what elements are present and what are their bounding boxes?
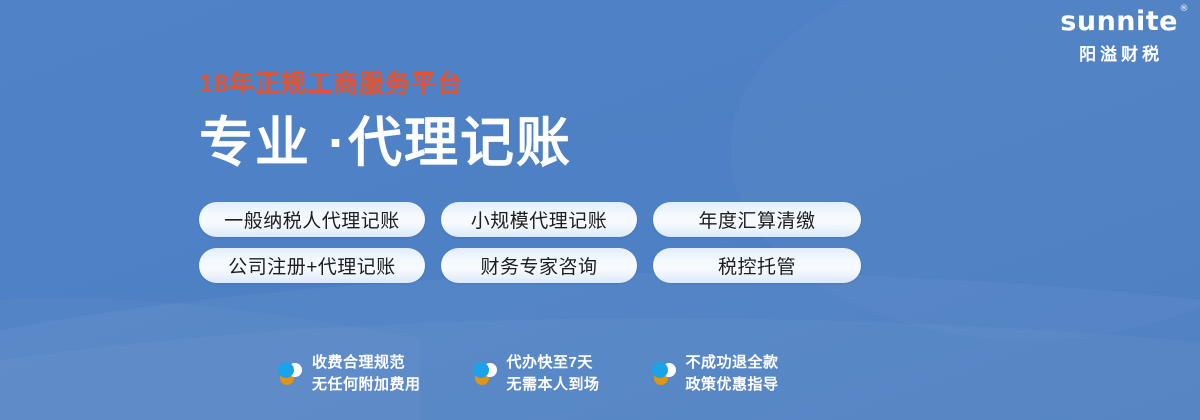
service-pill[interactable]: 一般纳税人代理记账 [199, 202, 425, 237]
feature-line-2: 无需本人到场 [507, 374, 600, 396]
feature-text: 代办快至7天 无需本人到场 [507, 352, 600, 396]
service-pill[interactable]: 税控托管 [653, 248, 861, 283]
badge-blue-dot-icon [473, 362, 489, 378]
promo-banner: sunnite ® 阳溢财税 18年正规工商服务平台 专业 ·代理记账 一般纳税… [0, 0, 1200, 420]
feature-item: 代办快至7天 无需本人到场 [472, 352, 600, 396]
three-dot-badge-icon [651, 359, 677, 389]
logo-wordmark: sunnite ® [1060, 8, 1178, 35]
feature-line-2: 政策优惠指导 [686, 374, 779, 396]
service-pill-grid: 一般纳税人代理记账 小规模代理记账 年度汇算清缴 公司注册+代理记账 财务专家咨… [199, 202, 861, 283]
feature-line-1: 代办快至7天 [507, 352, 600, 374]
service-pill-row: 公司注册+代理记账 财务专家咨询 税控托管 [199, 248, 861, 283]
service-pill[interactable]: 公司注册+代理记账 [199, 248, 425, 283]
feature-text: 收费合理规范 无任何附加费用 [312, 352, 421, 396]
headline-block: 18年正规工商服务平台 专业 ·代理记账 [199, 72, 572, 170]
feature-item: 不成功退全款 政策优惠指导 [651, 352, 779, 396]
feature-text: 不成功退全款 政策优惠指导 [686, 352, 779, 396]
feature-list: 收费合理规范 无任何附加费用 代办快至7天 无需本人到场 不成功退全款 [277, 352, 779, 396]
three-dot-badge-icon [472, 359, 498, 389]
service-pill-row: 一般纳税人代理记账 小规模代理记账 年度汇算清缴 [199, 202, 861, 237]
service-pill[interactable]: 年度汇算清缴 [653, 202, 861, 237]
registered-trademark-icon: ® [1180, 5, 1190, 14]
feature-line-1: 收费合理规范 [312, 352, 421, 374]
feature-line-2: 无任何附加费用 [312, 374, 421, 396]
badge-blue-dot-icon [278, 362, 294, 378]
three-dot-badge-icon [277, 359, 303, 389]
badge-blue-dot-icon [652, 362, 668, 378]
logo-chinese-name: 阳溢财税 [1060, 46, 1178, 63]
feature-line-1: 不成功退全款 [686, 352, 779, 374]
page-title: 专业 ·代理记账 [199, 116, 572, 170]
brand-logo[interactable]: sunnite ® 阳溢财税 [1060, 8, 1178, 63]
eyebrow-text: 18年正规工商服务平台 [199, 72, 572, 97]
feature-item: 收费合理规范 无任何附加费用 [277, 352, 421, 396]
logo-wordmark-text: sunnite [1060, 6, 1178, 37]
service-pill[interactable]: 小规模代理记账 [441, 202, 637, 237]
service-pill[interactable]: 财务专家咨询 [441, 248, 637, 283]
